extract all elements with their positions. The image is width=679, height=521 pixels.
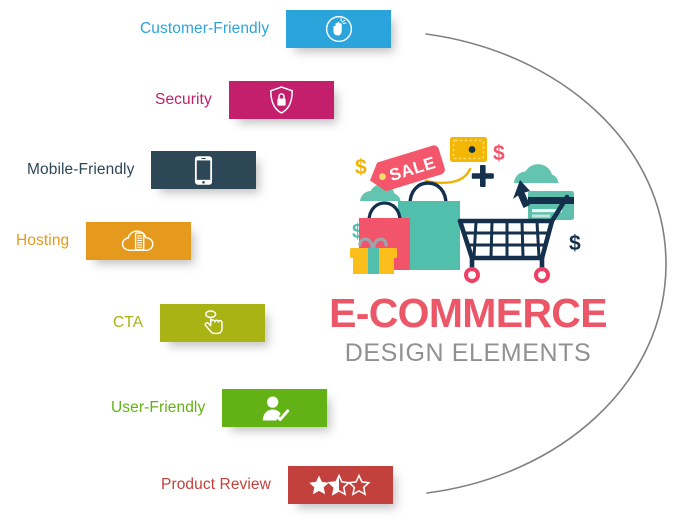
feature-label-customer-friendly: Customer-Friendly xyxy=(140,20,269,38)
hand-wave-icon xyxy=(324,14,354,44)
arrow-down-icon xyxy=(513,180,530,208)
feature-chip-mobile-friendly[interactable] xyxy=(151,151,256,189)
feature-row-customer-friendly[interactable]: Customer-Friendly xyxy=(140,10,391,48)
cloud-icon xyxy=(514,164,559,183)
feature-label-user-friendly: User-Friendly xyxy=(111,399,205,417)
feature-chip-user-friendly[interactable] xyxy=(222,389,327,427)
feature-label-product-review: Product Review xyxy=(161,476,271,494)
feature-chip-security[interactable] xyxy=(229,81,334,119)
feature-label-hosting: Hosting xyxy=(16,232,69,250)
feature-row-security[interactable]: Security xyxy=(155,81,334,119)
feature-label-security: Security xyxy=(155,91,212,109)
plus-symbol xyxy=(472,165,494,187)
wallet-icon xyxy=(450,137,487,162)
page-title: E-COMMERCE xyxy=(318,293,618,334)
feature-chip-product-review[interactable] xyxy=(288,466,393,504)
dollar-symbol: $ xyxy=(493,142,505,165)
center-block: $ $ $ $ xyxy=(318,125,618,366)
feature-chip-customer-friendly[interactable] xyxy=(286,10,391,48)
page-subtitle: DESIGN ELEMENTS xyxy=(318,341,618,366)
feature-row-hosting[interactable]: Hosting xyxy=(16,222,191,260)
feature-label-cta: CTA xyxy=(113,314,143,332)
feature-label-mobile-friendly: Mobile-Friendly xyxy=(27,161,134,179)
smartphone-icon xyxy=(194,155,213,186)
shield-lock-icon xyxy=(267,85,296,115)
click-hand-icon xyxy=(198,309,228,338)
infographic-canvas: Customer-Friendly Security xyxy=(0,0,679,521)
feature-row-user-friendly[interactable]: User-Friendly xyxy=(111,389,327,427)
star-rating-icon xyxy=(309,474,371,496)
feature-row-product-review[interactable]: Product Review xyxy=(161,466,393,504)
feature-chip-cta[interactable] xyxy=(160,304,265,342)
dollar-symbol: $ xyxy=(355,156,367,179)
ecommerce-shopping-illustration: $ $ $ $ xyxy=(342,125,594,285)
user-check-icon xyxy=(259,394,291,423)
dollar-symbol: $ xyxy=(569,232,581,255)
feature-chip-hosting[interactable] xyxy=(86,222,191,260)
feature-row-cta[interactable]: CTA xyxy=(113,304,265,342)
cloud-server-icon xyxy=(121,227,157,255)
feature-row-mobile-friendly[interactable]: Mobile-Friendly xyxy=(27,151,256,189)
